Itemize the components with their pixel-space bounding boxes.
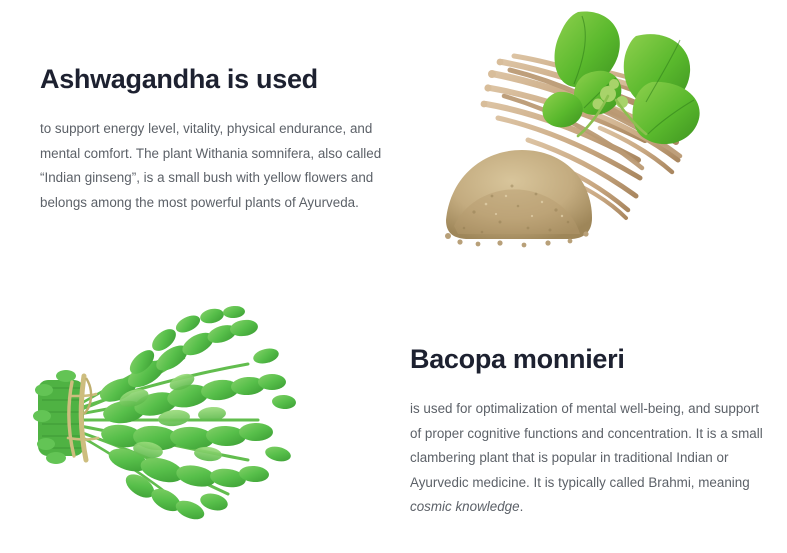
bacopa-heading: Bacopa monnieri — [410, 344, 768, 375]
bacopa-paragraph-tail: . — [520, 499, 524, 514]
page-root: Ashwagandha is used to support energy le… — [0, 0, 787, 553]
bacopa-paragraph-emphasis: cosmic knowledge — [410, 499, 520, 514]
bacopa-paragraph: is used for optimalization of mental wel… — [410, 397, 768, 520]
ashwagandha-paragraph: to support energy level, vitality, physi… — [40, 117, 392, 215]
section-ashwagandha: Ashwagandha is used to support energy le… — [40, 64, 392, 215]
section-bacopa: Bacopa monnieri is used for optimalizati… — [410, 344, 768, 520]
bacopa-monnieri-bunch-photo — [22, 278, 352, 540]
ashwagandha-roots-powder-photo — [440, 0, 770, 252]
ashwagandha-heading: Ashwagandha is used — [40, 64, 392, 95]
bacopa-paragraph-lead: is used for optimalization of mental wel… — [410, 401, 763, 490]
